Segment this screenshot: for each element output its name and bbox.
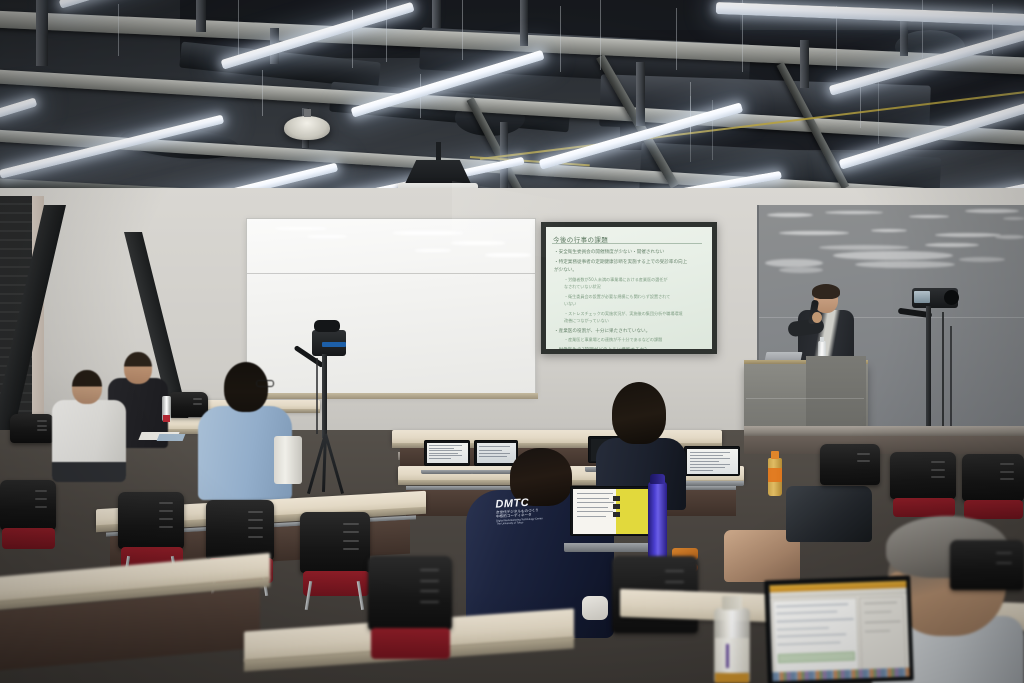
- slide-bullet: なされていない状況: [564, 284, 601, 290]
- trash-bin: [274, 436, 302, 484]
- paper-sheet: [157, 434, 186, 441]
- lecture-hall-photo: 今後の行事の課題 ・安全衛生委員会の開催頻度が少ない・開催されない ・特定業務従…: [0, 0, 1024, 683]
- slide-bullet: ・ストレスチェックの実施状況が、実施後の集団分析や職場環境: [564, 311, 683, 317]
- laptop: [570, 486, 652, 552]
- audience-head: [612, 382, 666, 444]
- slide-bullet: ・特定業務従事者の定期健康診断を実施する上での受診率の向上: [554, 259, 687, 266]
- ceiling-post: [196, 0, 206, 32]
- ceiling-post: [800, 40, 809, 88]
- thermos-bottle: [648, 482, 667, 560]
- chair: [10, 414, 54, 460]
- chair: [950, 540, 1024, 620]
- shotgun-mic: [314, 320, 340, 332]
- presentation-slide: 今後の行事の課題 ・安全衛生委員会の開催頻度が少ない・開催されない ・特定業務従…: [546, 227, 712, 349]
- fluorescent-tube: [716, 2, 1024, 26]
- water-bottle: [162, 396, 171, 422]
- riser-face: [744, 436, 1024, 454]
- slide-bullet: 改善につながっていない: [564, 318, 609, 324]
- ceiling-post: [36, 0, 48, 66]
- laptop: [764, 575, 914, 683]
- slide-bullet: ・安全衛生委員会の開催頻度が少ない・開催されない: [554, 249, 664, 256]
- audience-head: [124, 352, 152, 384]
- projection-screen: 今後の行事の課題 ・安全衛生委員会の開催頻度が少ない・開催されない ・特定業務従…: [541, 222, 717, 354]
- chair: [820, 444, 880, 510]
- laptop: [684, 446, 740, 486]
- slide-bullet: ・産業医の役割が、十分に果たされていない。: [554, 328, 650, 335]
- presenter-hair: [812, 284, 840, 299]
- dome-light: [284, 116, 330, 140]
- camera-center-rig: [296, 318, 358, 488]
- audience-member: [52, 370, 128, 480]
- slide-bullet: ・労働衛生の3管理がどのように機能するか？: [554, 347, 649, 349]
- ceiling-post: [432, 0, 441, 28]
- foreground-water-bottle: [714, 608, 750, 683]
- camera-accent: [322, 342, 346, 347]
- eyeglasses: [256, 380, 274, 387]
- slide-bullet: が少ない。: [554, 267, 577, 274]
- camera-lcd-screen: [914, 291, 930, 303]
- fluorescent-tube: [0, 97, 37, 118]
- laptop: [424, 440, 470, 474]
- chair: [368, 556, 452, 676]
- chair: [0, 480, 56, 560]
- dmtc-logo: DMTC 次世代デジタルものづくり 中核的コーディネータ Digital Man…: [495, 496, 559, 533]
- floor-riser: [744, 426, 1024, 436]
- camera-lens: [944, 290, 959, 305]
- slide-bullet: ・衛生委員会の設置が必要な規模にも関わらず設置されて: [564, 294, 670, 300]
- white-glove: [582, 596, 608, 620]
- tripod-column: [322, 354, 327, 438]
- slide-bullet: ・労働者数が50人未満の事業場における産業医の選任が: [564, 277, 667, 283]
- audience-head: [72, 370, 102, 404]
- audience-head: [224, 362, 268, 412]
- chair: [300, 512, 370, 610]
- slide-bullet: ・産業医と事業場との連携が不十分であるなどの課題: [564, 337, 662, 343]
- ceiling-post: [636, 62, 645, 126]
- slide-bullet: いない: [564, 301, 576, 307]
- ceiling-post: [520, 0, 528, 46]
- presenter-hand: [812, 312, 822, 323]
- tripod-leg: [324, 434, 343, 494]
- tea-bottle: [768, 458, 782, 496]
